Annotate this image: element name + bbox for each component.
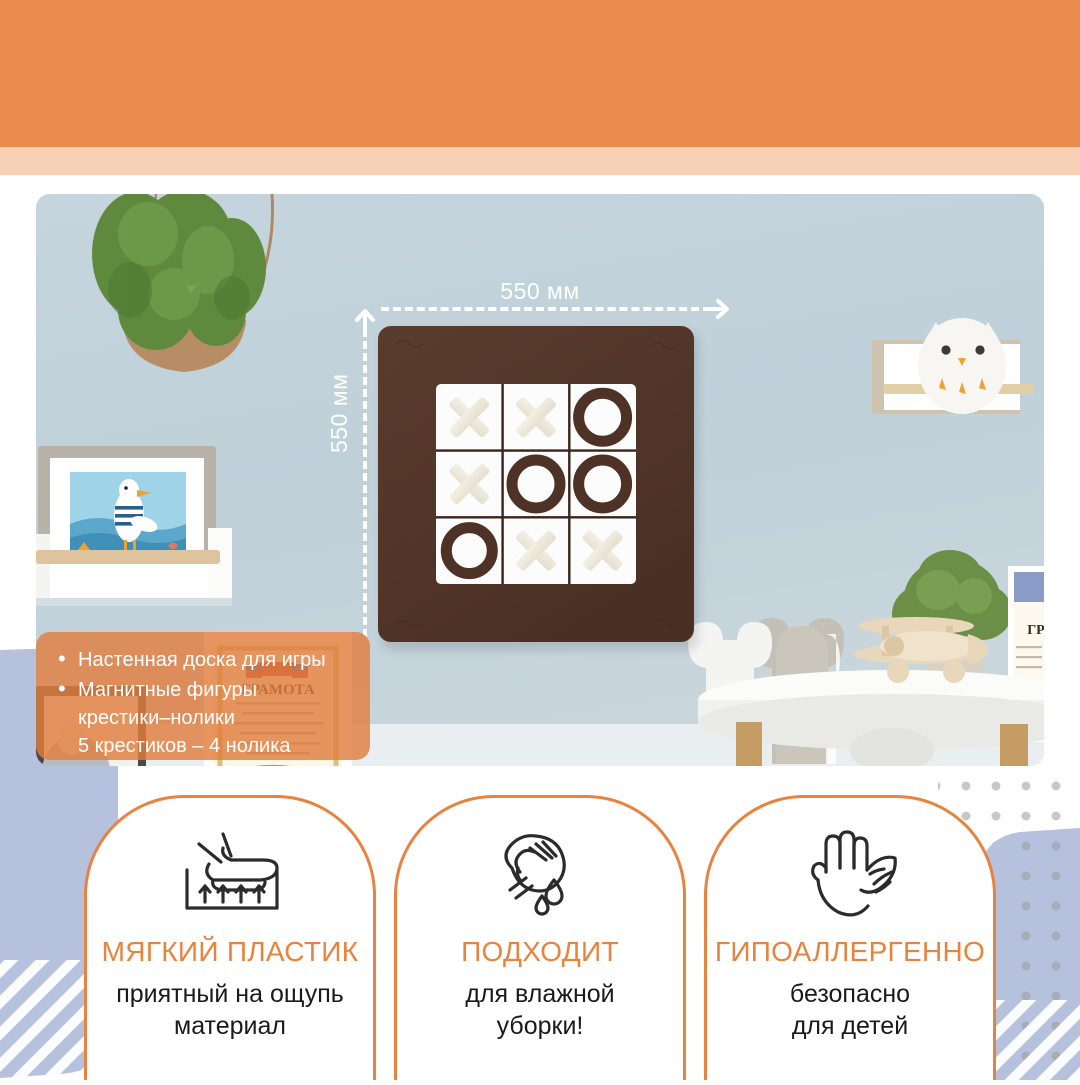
list-item: Магнитные фигуры крестики–нолики 5 крест…: [56, 676, 352, 760]
header-band: [0, 0, 1080, 147]
bullet-line: Настенная доска для игры: [78, 646, 352, 674]
feature-card-title: МЯГКИЙ ПЛАСТИК: [102, 936, 359, 968]
feature-card-subtitle-line1: приятный на ощупь: [116, 978, 344, 1010]
list-item: Настенная доска для игры: [56, 646, 352, 674]
feature-card-soft-plastic: МЯГКИЙ ПЛАСТИК приятный на ощупь материа…: [84, 795, 376, 1080]
feature-bullets-callout: Настенная доска для игры Магнитные фигур…: [36, 632, 370, 760]
dimension-width-arrow-icon: [706, 297, 730, 326]
feature-card-subtitle-line2: уборки!: [465, 1010, 614, 1042]
dimension-width-label: 550 мм: [0, 278, 1080, 305]
feature-card-title: ПОДХОДИТ: [461, 936, 619, 968]
washing-hand-drops-icon: [490, 828, 590, 924]
dimension-width-line: [381, 307, 711, 311]
hand-feather-icon: [798, 828, 902, 924]
feature-cards: МЯГКИЙ ПЛАСТИК приятный на ощупь материа…: [0, 795, 1080, 1080]
dimension-height-label: 550 мм: [326, 374, 353, 453]
owl-figure: [918, 318, 1006, 414]
feature-card-subtitle: для влажной уборки!: [465, 978, 614, 1042]
bullet-line: крестики–нолики: [78, 704, 352, 732]
dimension-height-line: [363, 317, 367, 637]
feature-card-subtitle-line2: материал: [116, 1010, 344, 1042]
feature-card-subtitle: безопасно для детей: [790, 978, 910, 1042]
feature-card-subtitle-line1: для влажной: [465, 978, 614, 1010]
feature-card-title: ГИПОАЛЛЕРГЕННО: [715, 936, 985, 968]
feature-card-wet-cleaning: ПОДХОДИТ для влажной уборки!: [394, 795, 686, 1080]
dimension-height-arrow-icon: [353, 308, 377, 337]
feature-card-subtitle-line1: безопасно: [790, 978, 910, 1010]
feature-card-hypoallergenic: ГИПОАЛЛЕРГЕННО безопасно для детей: [704, 795, 996, 1080]
soft-touch-hand-icon: [165, 828, 295, 924]
bullet-line: Магнитные фигуры: [78, 676, 352, 704]
feature-card-subtitle-line2: для детей: [790, 1010, 910, 1042]
feature-card-subtitle: приятный на ощупь материал: [116, 978, 344, 1042]
tic-tac-toe-board: [378, 326, 698, 650]
header-peach-strip: [0, 147, 1080, 175]
svg-text:ГР: ГР: [1027, 623, 1044, 638]
bullet-line: 5 крестиков – 4 нолика: [78, 732, 352, 760]
